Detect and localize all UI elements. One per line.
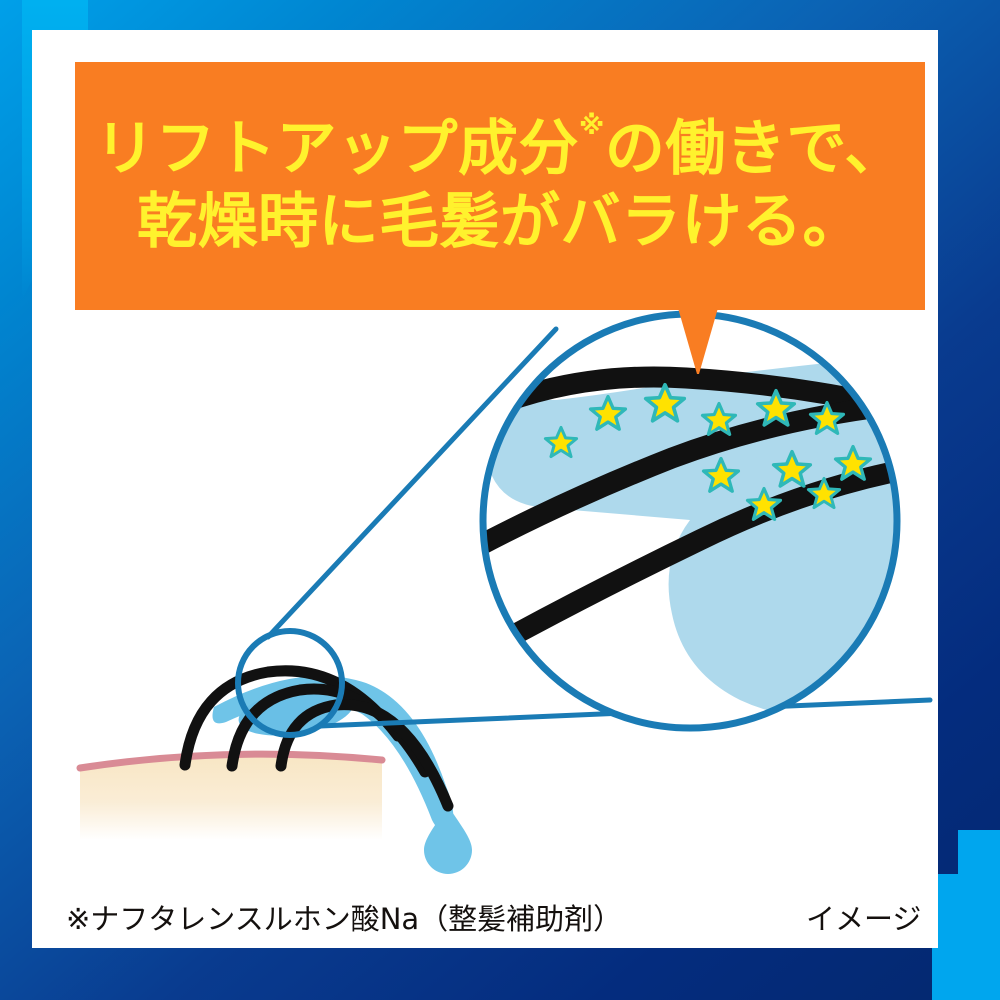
infographic-canvas: リフトアップ成分※の働きで、 乾燥時に毛髪がバラける。 ※ナフタレンスルホン酸N… bbox=[0, 0, 1000, 1000]
headline-line-1-tail: の働きで、 bbox=[605, 114, 905, 184]
magnified-lens bbox=[454, 310, 952, 735]
content-layer: リフトアップ成分※の働きで、 乾燥時に毛髪がバラける。 ※ナフタレンスルホン酸N… bbox=[0, 0, 1000, 1000]
headline-callout-bubble: リフトアップ成分※の働きで、 乾燥時に毛髪がバラける。 bbox=[75, 62, 925, 310]
headline-line-1-main: リフトアップ成分 bbox=[95, 114, 579, 184]
headline-text-block: リフトアップ成分※の働きで、 乾燥時に毛髪がバラける。 bbox=[75, 62, 925, 310]
headline-line-2: 乾燥時に毛髪がバラける。 bbox=[137, 189, 863, 256]
reference-mark: ※ bbox=[579, 111, 605, 141]
headline-line-1: リフトアップ成分※の働きで、 bbox=[95, 116, 905, 183]
ingredient-footnote: ※ナフタレンスルホン酸Na（整髪補助剤） bbox=[66, 896, 622, 938]
image-disclaimer: イメージ bbox=[806, 896, 921, 938]
